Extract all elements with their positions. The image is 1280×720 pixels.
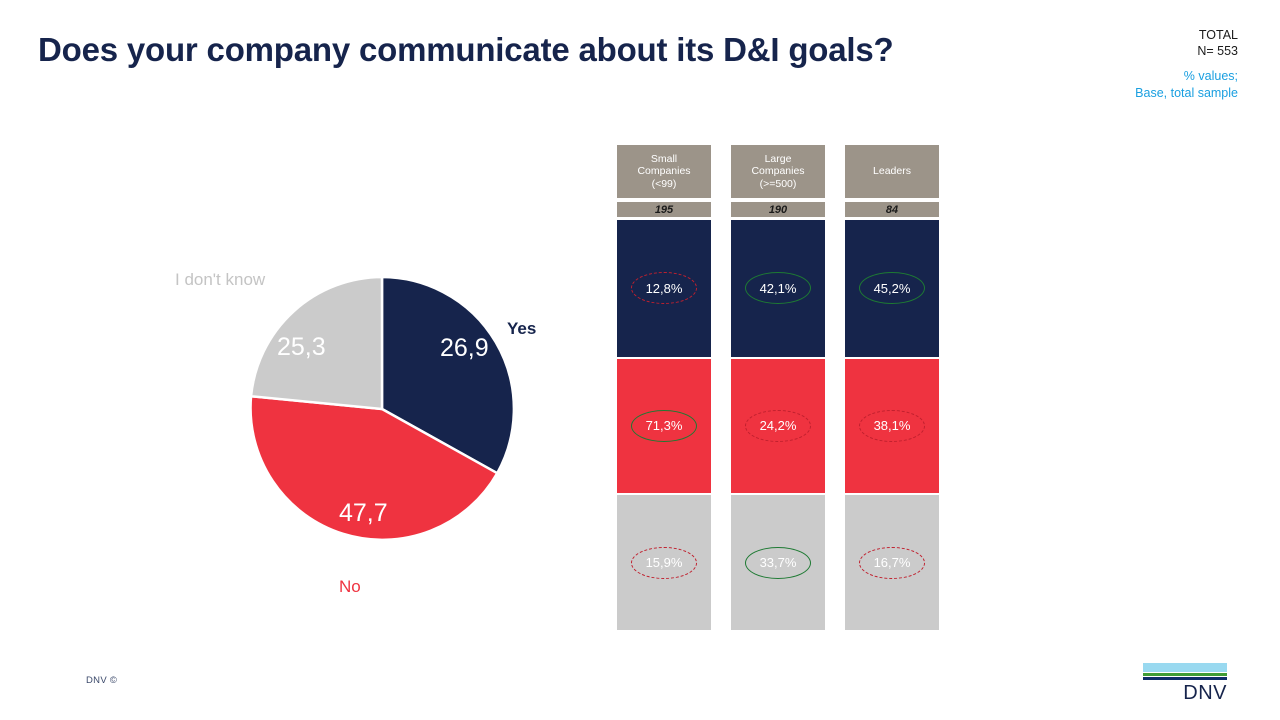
footer-copyright: DNV © [86,675,117,686]
segment-yes: 45,2% [845,220,939,357]
logo-bar-navy-icon [1143,677,1227,680]
column-header-line: Companies [751,165,804,178]
column-stack-small-companies: 12,8% 71,3% 15,9% [617,220,711,630]
column-header-large-companies: Large Companies (>=500) [731,145,825,198]
base-note-line-1: % values; [1135,68,1238,84]
bar-column-small-companies: Small Companies (<99) 195 12,8% 71,3% 15… [617,145,711,630]
column-stack-large-companies: 42,1% 24,2% 33,7% [731,220,825,630]
logo-wordmark: DNV [1143,682,1227,704]
segment-yes: 12,8% [617,220,711,357]
segment-i-dont-know: 16,7% [845,493,939,630]
segment-value-no: 38,1% [874,418,911,433]
logo-bar-green-icon [1143,673,1227,676]
pie-value-yes: 26,9 [440,334,489,363]
segment-value-i-dont-know: 15,9% [646,555,683,570]
segment-no: 71,3% [617,357,711,494]
segment-value-i-dont-know: 16,7% [874,555,911,570]
column-header-line: Large [765,153,792,166]
logo-bar-lightblue-icon [1143,663,1227,672]
segment-value-i-dont-know: 33,7% [760,555,797,570]
pie-label-no: No [339,577,361,597]
bar-column-large-companies: Large Companies (>=500) 190 42,1% 24,2% … [731,145,825,630]
dnv-logo: DNV [1143,663,1227,704]
pie-label-i-dont-know: I don't know [175,270,265,290]
segment-no: 24,2% [731,357,825,494]
column-header-line: Small [651,153,677,166]
pie-value-i-dont-know: 25,3 [277,333,326,362]
segment-yes: 42,1% [731,220,825,357]
column-header-line: (>=500) [760,178,797,191]
segment-i-dont-know: 15,9% [617,493,711,630]
total-label: TOTAL [1135,28,1238,44]
page-title: Does your company communicate about its … [38,31,894,69]
pie-value-no: 47,7 [339,499,388,528]
segment-value-no: 71,3% [646,418,683,433]
slide-root: Does your company communicate about its … [0,0,1280,720]
bar-column-leaders: Leaders 84 45,2% 38,1% 16,7% [845,145,939,630]
column-base-large-companies: 190 [731,202,825,217]
column-header-leaders: Leaders [845,145,939,198]
segment-value-no: 24,2% [760,418,797,433]
pie-label-yes: Yes [507,319,536,339]
survey-meta: TOTAL N= 553 % values; Base, total sampl… [1135,28,1238,101]
column-base-leaders: 84 [845,202,939,217]
segment-no: 38,1% [845,357,939,494]
segment-value-yes: 42,1% [760,281,797,296]
base-note-line-2: Base, total sample [1135,85,1238,101]
segment-value-yes: 12,8% [646,281,683,296]
column-header-line: Companies [637,165,690,178]
column-header-line: (<99) [652,178,677,191]
column-stack-leaders: 45,2% 38,1% 16,7% [845,220,939,630]
column-header-line: Leaders [873,165,911,178]
column-header-small-companies: Small Companies (<99) [617,145,711,198]
segment-value-yes: 45,2% [874,281,911,296]
base-note: % values; Base, total sample [1135,68,1238,101]
sample-size-label: N= 553 [1135,44,1238,60]
column-base-small-companies: 195 [617,202,711,217]
segment-i-dont-know: 33,7% [731,493,825,630]
